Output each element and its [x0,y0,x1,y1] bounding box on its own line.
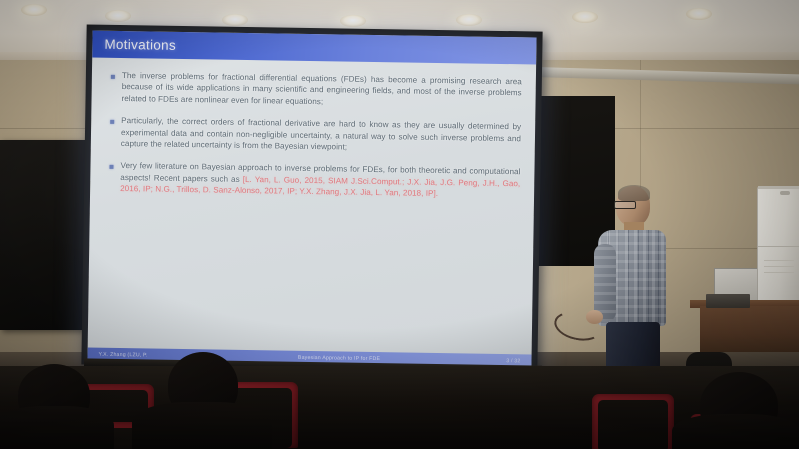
slide-bullet-1: The inverse problems for fractional diff… [107,70,521,111]
ceiling-light-1 [105,10,131,22]
presenter [594,186,682,368]
ac-knob [780,191,790,195]
bullet-square-icon [111,75,115,79]
ceiling-light-4 [456,14,482,26]
slide-body: The inverse problems for fractional diff… [90,58,536,202]
chair-cushion [598,400,668,449]
attendee-left-shoulders [0,406,114,449]
glasses-icon [614,201,636,209]
ceiling-light-7 [21,4,47,16]
ceiling-light-3 [340,15,366,27]
podium-monitor [706,294,750,308]
bullet-square-icon [110,120,114,124]
audience-foreground [0,366,799,449]
projected-slide: Motivations The inverse problems for fra… [87,31,536,368]
lecture-hall-scene: Motivations The inverse problems for fra… [0,0,799,449]
presenter-hair [618,185,650,201]
bullet-text-2: Particularly, the correct orders of frac… [121,115,521,155]
footer-page-number: 3 / 32 [428,356,532,364]
ceiling-light-5 [572,11,598,23]
ac-top-cap [758,186,799,189]
bullet-square-icon [109,165,113,169]
ceiling-light-6 [686,8,712,20]
wooden-podium [700,306,799,352]
chalkboard-panel [0,140,85,330]
ac-grille-2 [764,266,794,267]
slide-bullet-3: Very few literature on Bayesian approach… [106,160,520,201]
bullet-text-1: The inverse problems for fractional diff… [121,70,521,110]
presenter-trousers [606,322,660,370]
slide-bullet-2: Particularly, the correct orders of frac… [107,115,521,156]
attendee-right-shoulders [672,414,799,449]
bullet-text-3: Very few literature on Bayesian approach… [120,160,520,200]
ac-grille-3 [764,272,794,273]
chair-back-right [592,394,674,449]
slide-title: Motivations [92,37,176,53]
ceiling-light-2 [222,14,248,26]
attendee-center-shoulders [132,402,272,449]
ac-grille-1 [764,260,794,261]
ac-seam [758,246,799,247]
